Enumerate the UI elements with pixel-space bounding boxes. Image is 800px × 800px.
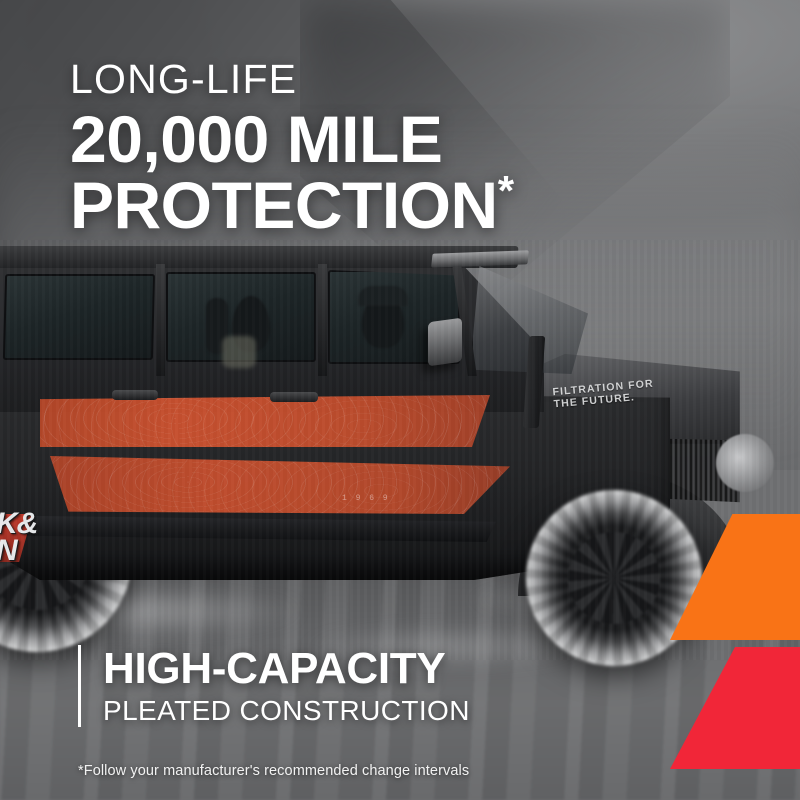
subhead-main: HIGH-CAPACITY bbox=[103, 645, 638, 693]
footnote-text: *Follow your manufacturer's recommended … bbox=[78, 762, 698, 780]
door-badge-text: 1 9 6 9 bbox=[342, 494, 390, 503]
passenger-torso bbox=[222, 336, 256, 368]
subhead-block: HIGH-CAPACITY PLEATED CONSTRUCTION bbox=[78, 645, 638, 727]
vehicle-suv: 1 9 6 9 FILTRATION FOR THE FUTURE. K& N bbox=[0, 240, 770, 660]
kn-logo-line-2: N bbox=[0, 537, 37, 564]
side-mirror bbox=[428, 318, 462, 367]
headline-line-2-wrap: PROTECTION* bbox=[70, 172, 690, 238]
front-wheel-hub bbox=[568, 532, 660, 624]
headline-eyebrow: LONG-LIFE bbox=[70, 56, 690, 102]
b-pillar bbox=[156, 264, 165, 376]
headline-line-2: PROTECTION bbox=[70, 168, 498, 242]
headline-block: LONG-LIFE 20,000 MILE PROTECTION* bbox=[70, 56, 690, 238]
vehicle-headlight bbox=[716, 434, 774, 492]
rear-door-handle bbox=[112, 390, 158, 400]
headline-main: 20,000 MILE PROTECTION* bbox=[70, 106, 690, 238]
rear-window bbox=[3, 274, 155, 360]
body-stripe-upper bbox=[40, 395, 490, 447]
c-pillar bbox=[318, 264, 327, 376]
headline-asterisk: * bbox=[498, 167, 514, 214]
front-door-handle bbox=[270, 392, 318, 402]
headline-line-1: 20,000 MILE bbox=[70, 106, 690, 172]
kn-logo-line-1: K& bbox=[0, 510, 37, 537]
kn-vehicle-logo: K& N bbox=[0, 510, 66, 566]
driver-cap bbox=[358, 286, 408, 306]
topographic-pattern bbox=[40, 395, 490, 447]
ad-creative: 1 9 6 9 FILTRATION FOR THE FUTURE. K& N … bbox=[0, 0, 800, 800]
subhead-secondary: PLEATED CONSTRUCTION bbox=[103, 695, 638, 727]
kn-logo-text: K& N bbox=[0, 510, 37, 564]
